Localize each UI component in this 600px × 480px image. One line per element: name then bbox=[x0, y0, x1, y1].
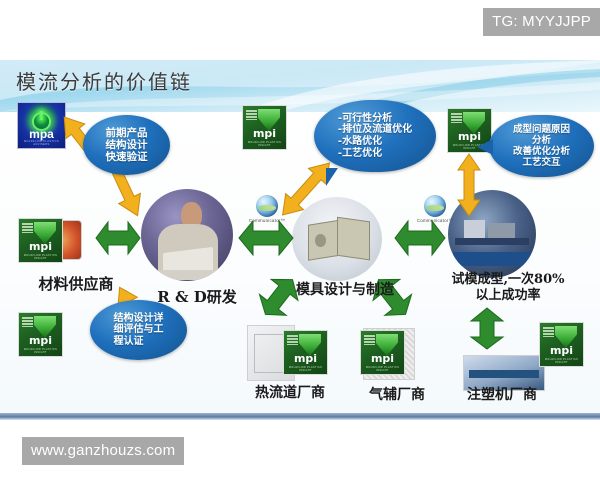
logo-mpi-text: mpi bbox=[243, 128, 286, 139]
watermark-bottom-left: www.ganzhouzs.com bbox=[22, 437, 184, 465]
callout-early-product-text: 前期产品 结构设计 快速验证 bbox=[101, 127, 153, 164]
caption-gas-assist: 气辅厂商 bbox=[354, 387, 440, 404]
logo-bars-icon bbox=[22, 223, 33, 239]
logo-mpa-top-left: mpa MOLDFLOW PLASTICS ADVISERS bbox=[17, 102, 66, 149]
slide-banner: 模流分析的价值链 bbox=[0, 60, 600, 112]
thumbnail-injection-machine bbox=[463, 355, 545, 391]
logo-bars-icon bbox=[246, 110, 257, 126]
logo-mpi-tagline: MOLDFLOW PLASTICS INSIGHT bbox=[20, 255, 61, 260]
logo-mpi-tagline: MOLDFLOW PLASTICS INSIGHT bbox=[362, 367, 403, 372]
logo-mpi-text: mpi bbox=[19, 335, 62, 346]
watermark-top-right: TG: MYYJJPP bbox=[483, 8, 600, 36]
logo-bars-icon bbox=[287, 335, 298, 351]
callout-molding-problems: 成型问题原因 分析 改善优化分析 工艺交互 bbox=[489, 115, 594, 177]
arrow-yellow-double-mpi-right bbox=[452, 152, 486, 218]
caption-injection-machine: 注塑机厂商 bbox=[450, 387, 554, 404]
page-title: 模流分析的价值链 bbox=[16, 66, 192, 95]
callout-early-product: 前期产品 结构设计 快速验证 bbox=[83, 115, 170, 175]
arrow-green-material-to-rnd bbox=[95, 217, 141, 259]
callout-tail bbox=[477, 139, 493, 155]
logo-mpa-text: mpa bbox=[18, 128, 65, 140]
caption-hot-runner: 热流道厂商 bbox=[238, 385, 342, 402]
callout-structure-eval-text: 结构设计详 细评估与工 程认证 bbox=[109, 313, 169, 348]
arrow-green-mold-to-trial bbox=[394, 217, 446, 259]
logo-bars-icon bbox=[364, 335, 375, 351]
logo-mpa-tagline: MOLDFLOW PLASTICS ADVISERS bbox=[18, 141, 65, 146]
logo-mpi-material-supplier: mpi MOLDFLOW PLASTICS INSIGHT bbox=[18, 218, 63, 263]
logo-bars-icon bbox=[543, 327, 554, 343]
logo-mpi-hot-runner: mpi MOLDFLOW PLASTICS INSIGHT bbox=[283, 330, 328, 375]
screenshot-root: TG: MYYJJPP 模流分析的价值链 mpa MOLDFLOW PLASTI… bbox=[0, 0, 600, 480]
callout-structure-eval: 结构设计详 细评估与工 程认证 bbox=[90, 300, 187, 360]
caption-mold-design: 模具设计与制造 bbox=[288, 282, 402, 299]
slide-canvas: 模流分析的价值链 mpa MOLDFLOW PLASTICS ADVISERS … bbox=[0, 60, 600, 420]
caption-material-supplier: 材料供应商 bbox=[18, 275, 134, 293]
logo-mpi-tagline: MOLDFLOW PLASTICS INSIGHT bbox=[541, 359, 582, 364]
logo-bars-icon bbox=[22, 317, 33, 333]
logo-mpi-top-center: mpi MOLDFLOW PLASTICS INSIGHT bbox=[242, 105, 287, 150]
callout-molding-problems-text: 成型问题原因 分析 改善优化分析 工艺交互 bbox=[508, 124, 575, 168]
logo-mpi-text: mpi bbox=[19, 241, 62, 252]
logo-bars-icon bbox=[451, 113, 462, 129]
callout-analysis-items: -可行性分析 -排位及流道优化 -水路优化 -工艺优化 bbox=[314, 100, 436, 172]
logo-mpi-tagline: MOLDFLOW PLASTICS INSIGHT bbox=[285, 367, 326, 372]
logo-mpi-lower-left: mpi MOLDFLOW PLASTICS INSIGHT bbox=[18, 312, 63, 357]
callout-analysis-items-text: -可行性分析 -排位及流道优化 -水路优化 -工艺优化 bbox=[333, 113, 417, 159]
arrow-green-trial-to-injection bbox=[468, 302, 506, 356]
logo-mpi-tagline: MOLDFLOW PLASTICS INSIGHT bbox=[244, 142, 285, 147]
caption-trial-molding: 试模成型,一次80% 以上成功率 bbox=[444, 272, 572, 304]
caption-rnd: R & D研发 bbox=[145, 288, 249, 306]
slide-bottom-bar bbox=[0, 413, 600, 420]
logo-mpi-text: mpi bbox=[284, 353, 327, 364]
logo-mpi-gas-assist: mpi MOLDFLOW PLASTICS INSIGHT bbox=[360, 330, 405, 375]
logo-mpi-text: mpi bbox=[540, 345, 583, 356]
logo-mpi-text: mpi bbox=[361, 353, 404, 364]
logo-mpi-tagline: MOLDFLOW PLASTICS INSIGHT bbox=[20, 349, 61, 354]
logo-mpi-injection-machine: mpi MOLDFLOW PLASTICS INSIGHT bbox=[539, 322, 584, 367]
callout-tail bbox=[326, 168, 338, 186]
node-photo-rnd bbox=[141, 189, 233, 281]
globe-icon bbox=[424, 195, 446, 217]
